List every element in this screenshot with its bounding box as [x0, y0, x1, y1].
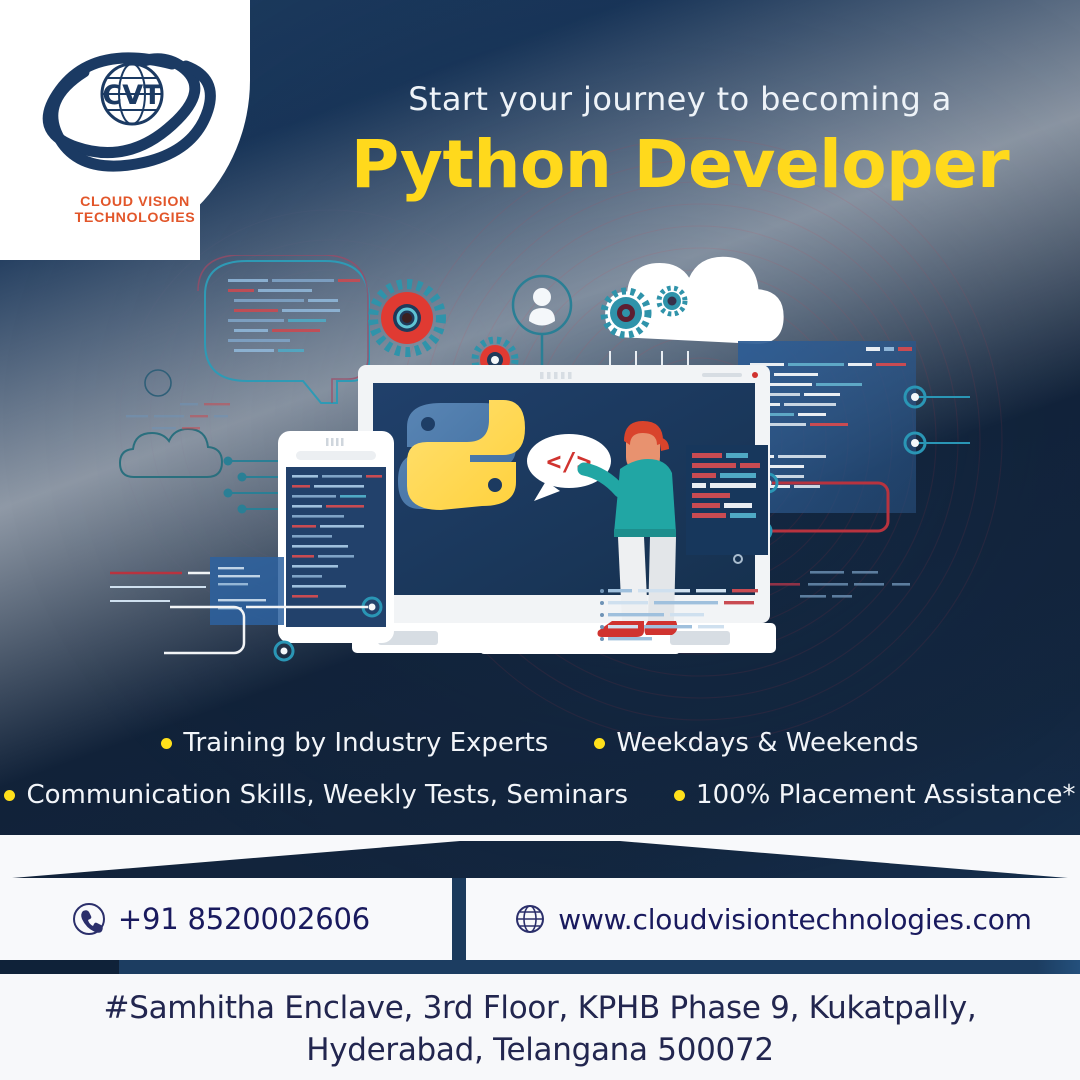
contact-divider — [452, 878, 466, 960]
micro-code-left — [126, 403, 230, 429]
bullet-dot-icon — [161, 738, 172, 749]
cloud-outline-icon — [120, 429, 222, 477]
poster-canvas: </> — [0, 0, 1080, 1080]
python-logo — [398, 400, 525, 510]
globe-monogram-icon: CVT — [102, 64, 162, 124]
headline-title: Python Developer — [300, 126, 1060, 203]
address-block: #Samhitha Enclave, 3rd Floor, KPHB Phase… — [0, 988, 1080, 1071]
user-avatar-node — [513, 276, 571, 379]
contact-bar: +91 8520002606 www.cloudvisiontechnologi… — [0, 878, 1080, 960]
hero-bottom-chevron — [0, 835, 1080, 878]
feature-list: Training by Industry Experts Weekdays & … — [0, 728, 1080, 832]
hero-section: </> — [0, 0, 1080, 878]
feature-item: Communication Skills, Weekly Tests, Semi… — [4, 780, 628, 810]
screen-code-block — [686, 445, 768, 555]
address-line-1: #Samhitha Enclave, 3rd Floor, KPHB Phase… — [0, 988, 1080, 1030]
connector-dots-left — [224, 457, 247, 514]
brand-logo[interactable]: CVT CLOUD VISION TECHNOLOGIES — [22, 28, 242, 208]
svg-text:CVT: CVT — [102, 80, 162, 111]
code-card-small — [210, 557, 284, 625]
feature-item: Weekdays & Weekends — [594, 728, 918, 758]
website-url: www.cloudvisiontechnologies.com — [558, 903, 1031, 936]
phone-number: +91 8520002606 — [118, 902, 370, 936]
tablet-device — [278, 431, 394, 643]
phone-card[interactable]: +91 8520002606 — [0, 878, 452, 960]
illustration: </> — [110, 255, 1070, 685]
feature-row-1: Training by Industry Experts Weekdays & … — [0, 728, 1080, 758]
headline-block: Start your journey to becoming a Python … — [300, 80, 1060, 203]
circle-node — [145, 370, 171, 396]
connector-nodes-left — [230, 461, 278, 509]
head-silhouette-code — [198, 255, 369, 403]
left-long-lines — [110, 573, 210, 601]
feature-item: 100% Placement Assistance* — [674, 780, 1076, 810]
navy-separator-bar — [0, 960, 1080, 974]
globe-icon — [514, 903, 546, 935]
feature-label: Communication Skills, Weekly Tests, Semi… — [26, 780, 628, 810]
bullet-dot-icon — [594, 738, 605, 749]
feature-label: Training by Industry Experts — [183, 728, 548, 758]
bullet-dot-icon — [4, 790, 15, 801]
headline-subtitle: Start your journey to becoming a — [300, 80, 1060, 118]
feature-row-2: Communication Skills, Weekly Tests, Semi… — [0, 780, 1080, 810]
phone-icon — [72, 902, 106, 936]
bullet-dot-icon — [674, 790, 685, 801]
website-card[interactable]: www.cloudvisiontechnologies.com — [466, 878, 1080, 960]
gear-red — [373, 284, 441, 352]
feature-item: Training by Industry Experts — [161, 728, 548, 758]
address-line-2: Hyderabad, Telangana 500072 — [0, 1030, 1080, 1072]
feature-label: 100% Placement Assistance* — [696, 780, 1076, 810]
cvt-globe-orbit-logo-icon: CVT — [22, 28, 242, 208]
feature-label: Weekdays & Weekends — [616, 728, 918, 758]
brand-name: CLOUD VISION TECHNOLOGIES — [30, 194, 240, 226]
